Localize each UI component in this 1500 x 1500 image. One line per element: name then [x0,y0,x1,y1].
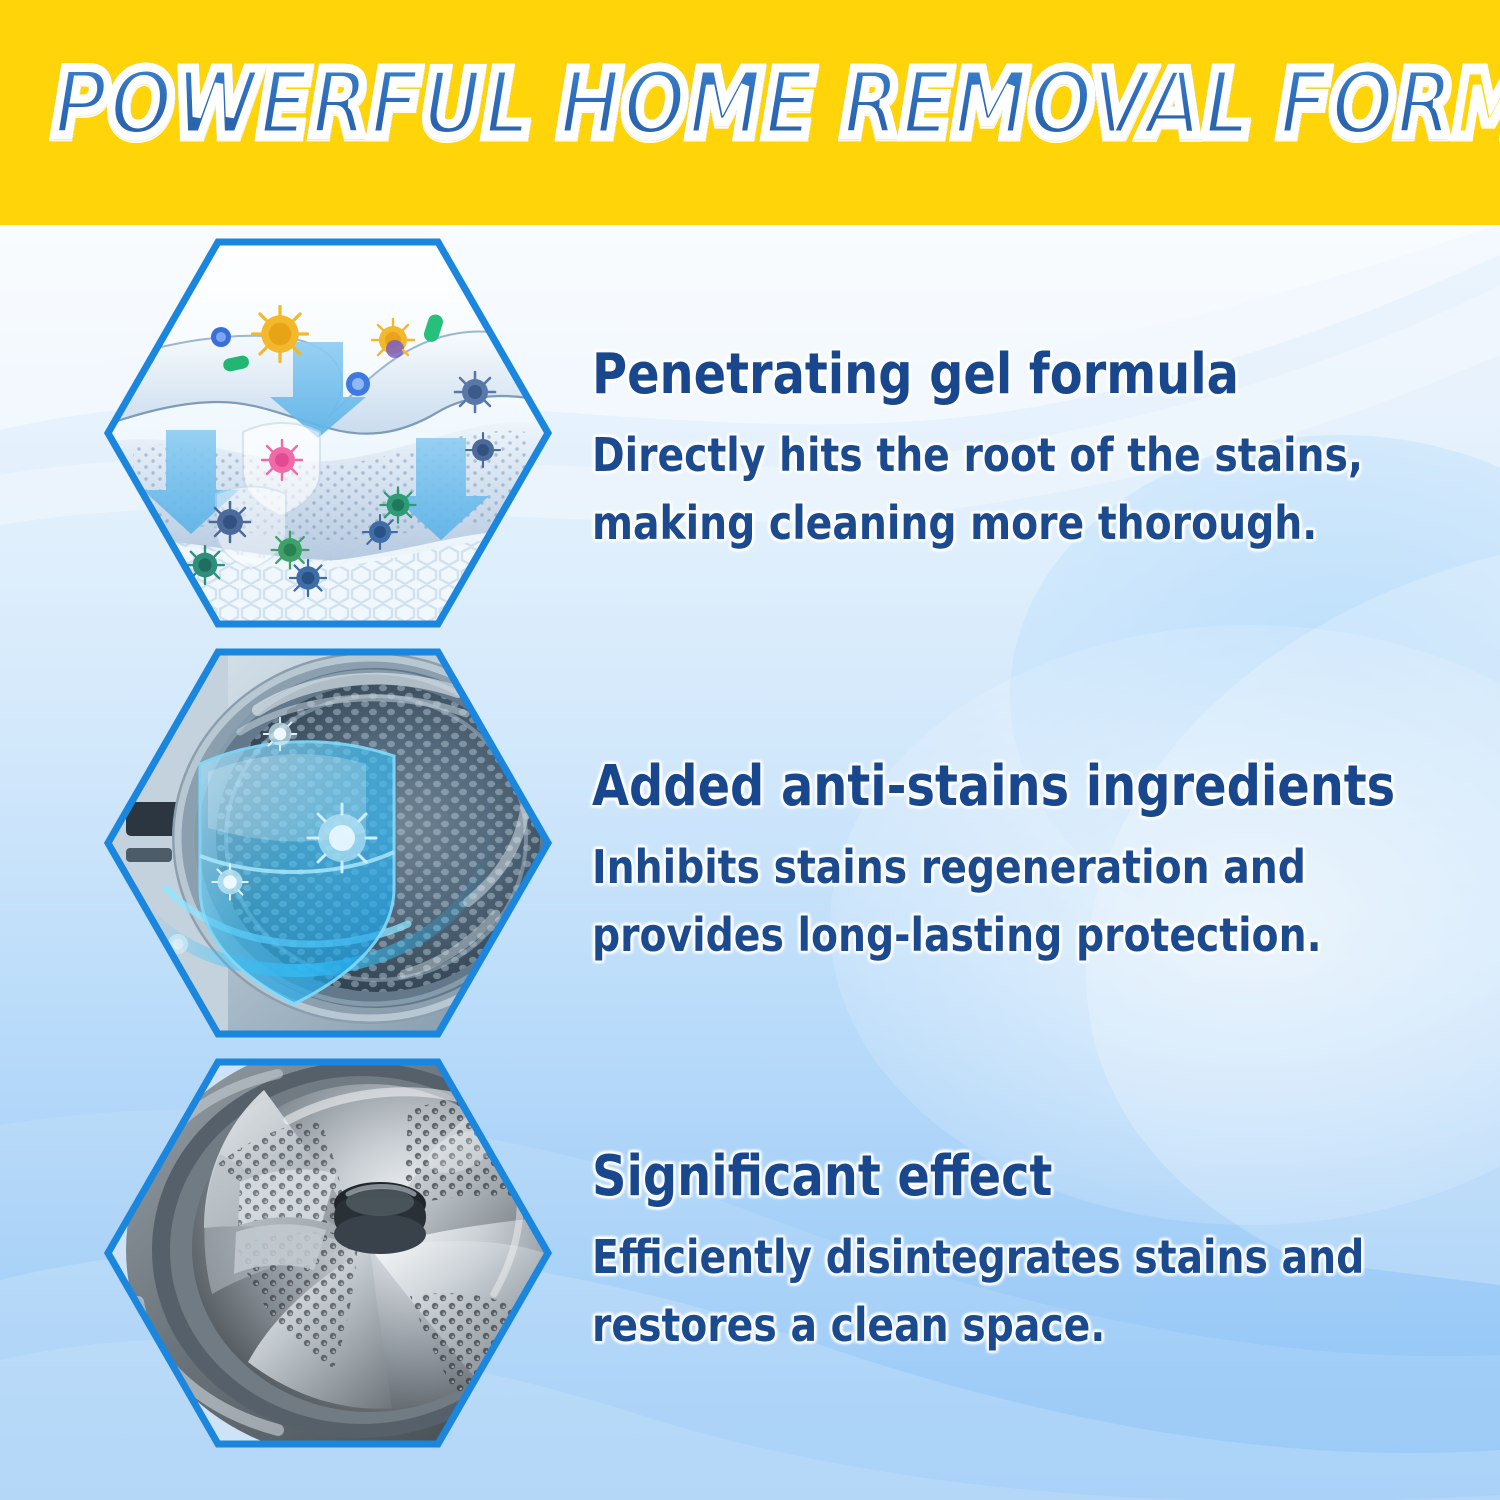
product-feature-infographic: POWERFUL HOME REMOVAL FORMULA [0,0,1500,1500]
feature-body-1-line-1: Directly hits the root of the stains, [592,421,1409,489]
content-stage: Penetrating gel formula Directly hits th… [0,225,1500,1500]
feature-heading-2: Added anti-stains ingredients [592,755,1428,819]
feature-body-1: Directly hits the root of the stains, ma… [592,421,1409,557]
header-banner: POWERFUL HOME REMOVAL FORMULA [0,0,1500,225]
feature-body-3-line-1: Efficiently disintegrates stains and [592,1223,1419,1291]
feature-text-1: Penetrating gel formula Directly hits th… [592,343,1452,557]
gel-penetration-fabric-illustration [108,242,548,624]
feature-body-3-line-2: restores a clean space. [592,1291,1419,1359]
washer-drum-shield-illustration [108,652,548,1034]
feature-text-3: Significant effect Efficiently disintegr… [592,1145,1462,1359]
feature-body-3: Efficiently disintegrates stains and res… [592,1223,1419,1359]
feature-hex-1 [108,242,548,624]
feature-text-2: Added anti-stains ingredients Inhibits s… [592,755,1472,969]
feature-hex-3 [108,1062,548,1444]
feature-body-1-line-2: making cleaning more thorough. [592,489,1409,557]
page-title: POWERFUL HOME REMOVAL FORMULA [53,54,1448,154]
feature-hex-2 [108,652,548,1034]
clean-steel-drum-photo [108,1062,548,1444]
feature-body-2-line-2: provides long-lasting protection. [592,901,1428,969]
feature-heading-1: Penetrating gel formula [592,343,1409,407]
feature-body-2: Inhibits stains regeneration and provide… [592,833,1428,969]
feature-heading-3: Significant effect [592,1145,1419,1209]
feature-body-2-line-1: Inhibits stains regeneration and [592,833,1428,901]
